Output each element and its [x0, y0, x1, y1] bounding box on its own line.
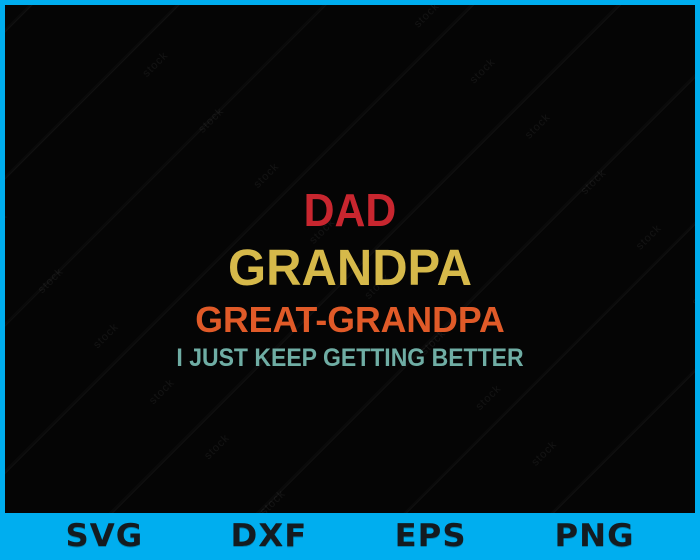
watermark-label: stock	[36, 266, 66, 296]
watermark-row: stock stock stock stock stock	[28, 5, 695, 513]
watermark-label: stock	[307, 216, 337, 246]
watermark-row: stock stock stock stock stock	[5, 5, 561, 470]
design-text-lockup: DAD GRANDPA GREAT-GRANDPA I JUST KEEP GE…	[5, 187, 695, 371]
watermark-label: stock	[690, 278, 695, 308]
watermark-row: stock stock stock stock stock	[5, 5, 695, 513]
format-label-svg: SVG	[66, 521, 144, 552]
product-preview-canvas: stock stock stock stock stock stock stoc…	[0, 0, 700, 560]
watermark-label: stock	[634, 222, 664, 252]
watermark-label: stock	[147, 377, 177, 407]
watermark-row: stock stock stock stock stock	[5, 5, 672, 513]
watermark-label: stock	[141, 50, 171, 80]
watermark-text-overlay: stock stock stock stock stock stock stoc…	[5, 5, 695, 513]
design-artboard: stock stock stock stock stock stock stoc…	[5, 5, 695, 513]
watermark-label: stock	[258, 488, 288, 513]
watermark-row: stock stock stock stock stock	[5, 5, 616, 513]
format-label-png: PNG	[554, 521, 634, 552]
design-line-tagline: I JUST KEEP GETTING BETTER	[33, 346, 668, 371]
watermark-label: stock	[529, 438, 559, 468]
design-line-grandpa: GRANDPA	[19, 242, 681, 293]
watermark-label: stock	[468, 56, 498, 86]
format-label-dxf: DXF	[231, 521, 308, 552]
watermark-label: stock	[252, 161, 282, 191]
watermark-label: stock	[412, 5, 442, 30]
watermark-row: stock stock stock stock stock	[84, 5, 695, 513]
watermark-stripes	[5, 5, 695, 513]
watermark-row: stock stock stock stock stock	[5, 5, 695, 513]
design-line-great-grandpa: GREAT-GRANDPA	[8, 302, 691, 338]
watermark-row: stock stock stock stock stock	[139, 48, 695, 513]
watermark-label: stock	[474, 383, 504, 413]
file-format-bar: SVG DXF EPS PNG	[0, 513, 700, 560]
format-label-eps: EPS	[395, 521, 467, 552]
watermark-label: stock	[91, 321, 121, 351]
watermark-label: stock	[579, 167, 609, 197]
watermark-label: stock	[202, 432, 232, 462]
design-line-dad: DAD	[29, 187, 671, 233]
watermark-label: stock	[523, 111, 553, 141]
watermark-label: stock	[5, 210, 10, 240]
watermark-label: stock	[418, 327, 448, 357]
watermark-label: stock	[363, 272, 393, 302]
watermark-label: stock	[196, 105, 226, 135]
